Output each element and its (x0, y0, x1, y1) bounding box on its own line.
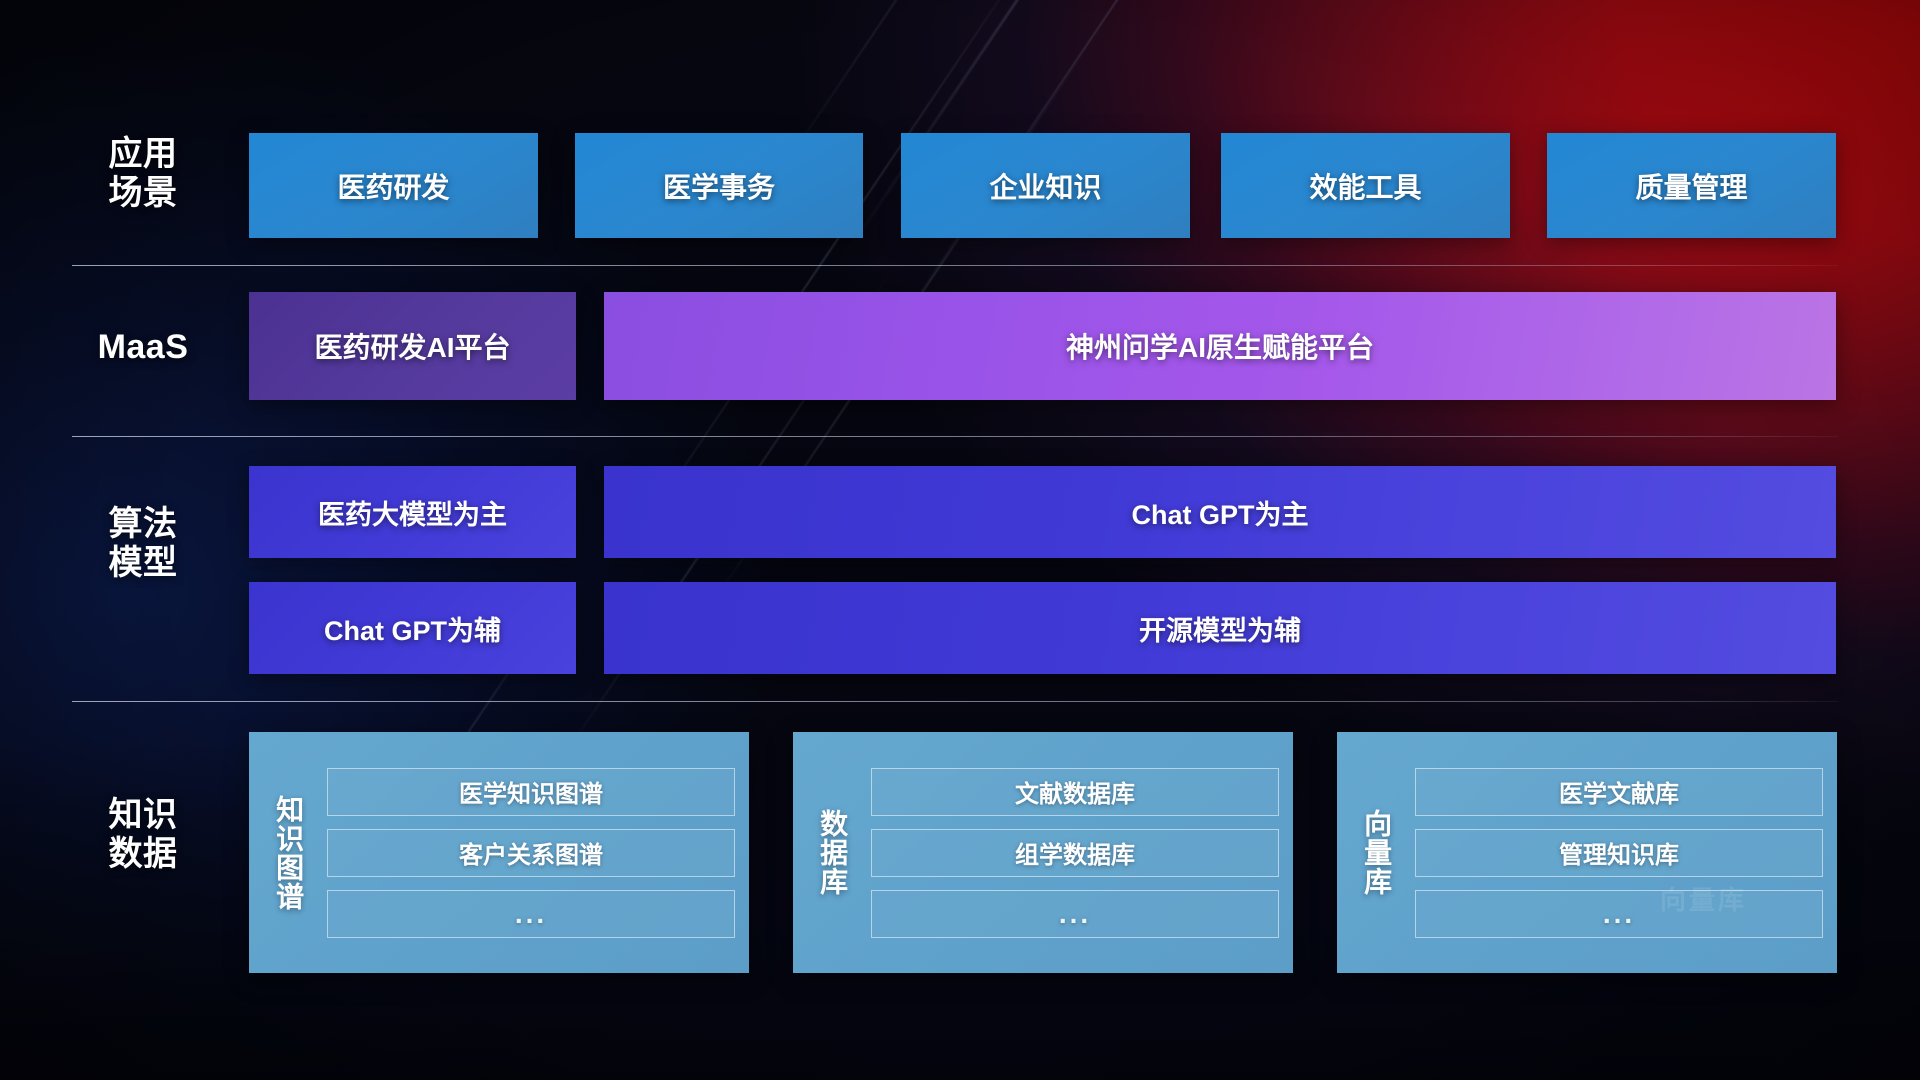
knowledge-item-database-more[interactable]: ... (871, 890, 1279, 938)
maas-card-medicine-ai-platform[interactable]: 医药研发AI平台 (249, 292, 576, 400)
knowledge-item-management-knowledge[interactable]: 管理知识库 (1415, 829, 1823, 877)
algo-card-opensource-secondary[interactable]: 开源模型为辅 (604, 582, 1836, 674)
app-card-medicine-rd[interactable]: 医药研发 (249, 133, 538, 238)
knowledge-group-vector: 向量库 医学文献库 管理知识库 ... (1337, 732, 1837, 973)
knowledge-item-customer-graph[interactable]: 客户关系图谱 (327, 829, 735, 877)
knowledge-group-vector-label: 向量库 (1337, 809, 1415, 896)
tier-label-knowledge-data-line2: 数据 (78, 835, 208, 874)
tier-label-knowledge-data: 知识 数据 (78, 796, 208, 875)
diagram-canvas: 应用 场景 医药研发 医学事务 企业知识 效能工具 质量管理 MaaS 医药研发… (0, 0, 1920, 1080)
knowledge-group-vector-items: 医学文献库 管理知识库 ... (1415, 768, 1823, 938)
app-card-quality-management[interactable]: 质量管理 (1547, 133, 1836, 238)
divider-tier2-tier3 (72, 436, 1838, 437)
knowledge-item-vector-more[interactable]: ... (1415, 890, 1823, 938)
algo-card-chatgpt-secondary[interactable]: Chat GPT为辅 (249, 582, 576, 674)
algo-card-medicine-llm-primary[interactable]: 医药大模型为主 (249, 466, 576, 558)
knowledge-group-graph-items: 医学知识图谱 客户关系图谱 ... (327, 768, 735, 938)
maas-card-shenzhou-wenxue-platform[interactable]: 神州问学AI原生赋能平台 (604, 292, 1836, 400)
app-card-efficiency-tools[interactable]: 效能工具 (1221, 133, 1510, 238)
knowledge-group-database-items: 文献数据库 组学数据库 ... (871, 768, 1279, 938)
tier-label-algorithm: 算法 模型 (78, 505, 208, 584)
watermark-text: 向量库 (1660, 880, 1747, 917)
tier-label-maas-line1: MaaS (78, 328, 208, 367)
tier-label-maas: MaaS (78, 328, 208, 367)
knowledge-group-graph: 知识图谱 医学知识图谱 客户关系图谱 ... (249, 732, 749, 973)
knowledge-item-omics-db[interactable]: 组学数据库 (871, 829, 1279, 877)
app-card-medical-affairs[interactable]: 医学事务 (575, 133, 863, 238)
app-card-enterprise-knowledge[interactable]: 企业知识 (901, 133, 1190, 238)
knowledge-group-graph-label: 知识图谱 (249, 795, 327, 911)
divider-tier1-tier2 (72, 265, 1838, 266)
knowledge-item-medical-graph[interactable]: 医学知识图谱 (327, 768, 735, 816)
tier-label-algorithm-line1: 算法 (78, 505, 208, 544)
tier-label-algorithm-line2: 模型 (78, 544, 208, 583)
tier-label-application-line1: 应用 (78, 135, 208, 174)
tier-label-application-line2: 场景 (78, 174, 208, 213)
knowledge-item-graph-more[interactable]: ... (327, 890, 735, 938)
divider-tier3-tier4 (72, 701, 1838, 702)
knowledge-group-database: 数据库 文献数据库 组学数据库 ... (793, 732, 1293, 973)
knowledge-item-literature-db[interactable]: 文献数据库 (871, 768, 1279, 816)
tier-label-application: 应用 场景 (78, 135, 208, 214)
knowledge-item-medical-literature[interactable]: 医学文献库 (1415, 768, 1823, 816)
knowledge-group-database-label: 数据库 (793, 809, 871, 896)
algo-card-chatgpt-primary[interactable]: Chat GPT为主 (604, 466, 1836, 558)
tier-label-knowledge-data-line1: 知识 (78, 796, 208, 835)
